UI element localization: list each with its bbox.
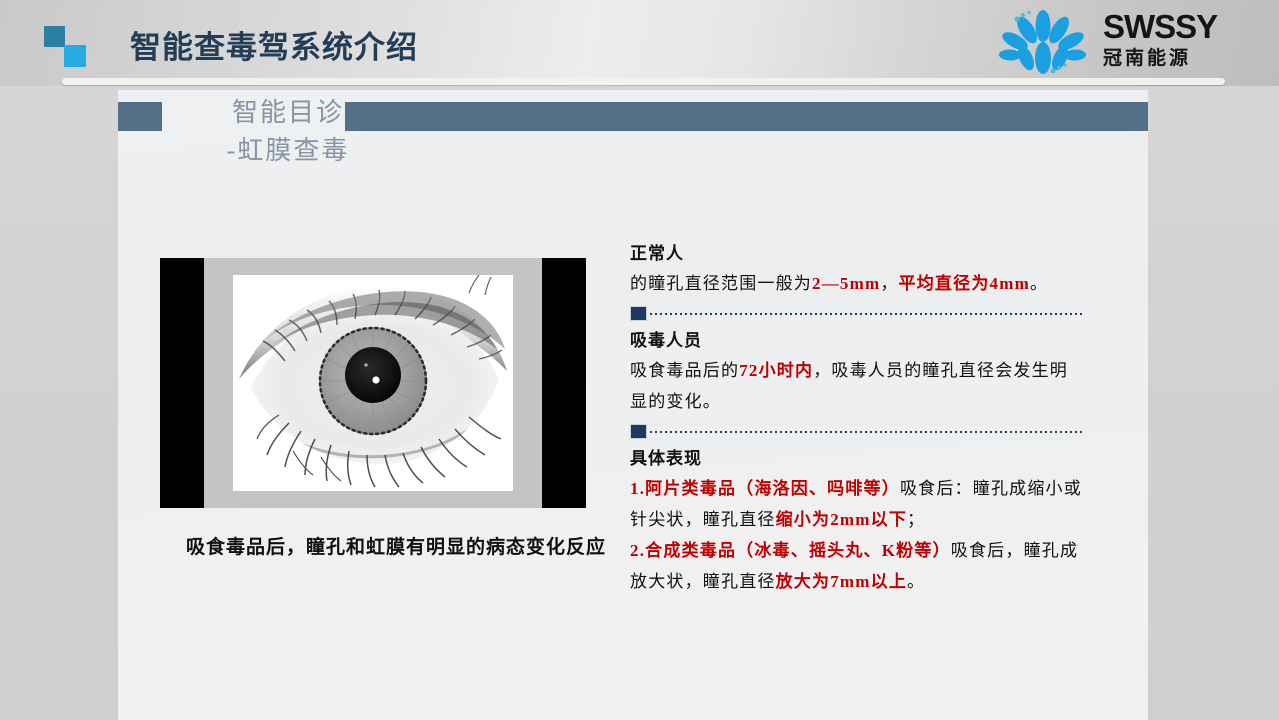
item1-highlight-lead: 1.阿片类毒品（海洛因、吗啡等） [630, 479, 900, 498]
slide-title: 智能目诊 -虹膜查毒 [178, 94, 398, 170]
slide-title-line1: 智能目诊 [232, 98, 344, 127]
content-block-drug-user: 吸毒人员 吸食毒品后的72小时内，吸毒人员的瞳孔直径会发生明显的变化。 [630, 327, 1085, 417]
item2-highlight-value: 放大为7mm以上 [776, 572, 907, 591]
slide-header: 智能查毒驾系统介绍 [0, 0, 1279, 86]
eye-figure [160, 258, 586, 508]
item2-highlight-lead: 2.合成类毒品（冰毒、摇头丸、K粉等） [630, 541, 951, 560]
brand-name: SWSSY [1103, 10, 1253, 44]
block-body: 的瞳孔直径范围一般为2—5mm，平均直径为4mm。 [630, 268, 1085, 299]
header-divider-rule [62, 78, 1225, 85]
title-accent-bar-left [118, 102, 162, 131]
block-heading: 吸毒人员 [630, 327, 1085, 355]
slide-title-line2: -虹膜查毒 [178, 132, 398, 170]
square-bright-icon [64, 45, 86, 67]
body-highlight-1: 2—5mm [812, 274, 880, 293]
block-heading: 正常人 [630, 240, 1085, 268]
body-text-pre: 吸食毒品后的 [630, 361, 739, 380]
petal-flower-logo-icon [995, 8, 1091, 76]
square-dark-icon [44, 26, 65, 47]
content-block-manifestations: 具体表现 1.阿片类毒品（海洛因、吗啡等）吸食后：瞳孔成缩小或针尖状，瞳孔直径缩… [630, 445, 1085, 597]
title-accent-bar-right [345, 102, 1148, 131]
two-squares-icon [44, 26, 92, 66]
eye-photograph [233, 275, 513, 491]
body-highlight-1: 72小时内 [739, 361, 813, 380]
content-block-normal-person: 正常人 的瞳孔直径范围一般为2—5mm，平均直径为4mm。 [630, 240, 1085, 299]
brand-subtitle: 冠南能源 [1103, 46, 1253, 72]
item1-highlight-value: 缩小为2mm以下 [776, 510, 907, 529]
content-text-column: 正常人 的瞳孔直径范围一般为2—5mm，平均直径为4mm。 吸毒人员 吸食毒品后… [630, 240, 1085, 597]
body-highlight-2: 平均直径为4mm [899, 274, 1030, 293]
item2-text-2: 。 [907, 572, 925, 591]
dotted-rule [650, 313, 1085, 315]
section-divider [630, 419, 1085, 445]
detail-item-1: 1.阿片类毒品（海洛因、吗啡等）吸食后：瞳孔成缩小或针尖状，瞳孔直径缩小为2mm… [630, 473, 1085, 535]
figure-caption: 吸食毒品后，瞳孔和虹膜有明显的病态变化反应 [136, 532, 656, 559]
navy-square-bullet-icon [630, 306, 647, 321]
body-text-post: 。 [1030, 274, 1048, 293]
navy-square-bullet-icon [630, 424, 647, 439]
brand-logo: SWSSY 冠南能源 [995, 6, 1255, 78]
detail-item-2: 2.合成类毒品（冰毒、摇头丸、K粉等）吸食后，瞳孔成放大状，瞳孔直径放大为7mm… [630, 535, 1085, 597]
page-title: 智能查毒驾系统介绍 [130, 22, 418, 67]
dotted-rule [650, 431, 1085, 433]
body-text-mid: ， [880, 274, 898, 293]
body-text-pre: 的瞳孔直径范围一般为 [630, 274, 812, 293]
presentation-slide: 智能查毒驾系统介绍 [0, 0, 1279, 720]
brand-text: SWSSY 冠南能源 [1103, 10, 1253, 72]
section-divider [630, 301, 1085, 327]
slide-content-panel: 智能目诊 -虹膜查毒 [118, 90, 1148, 720]
block-heading: 具体表现 [630, 445, 1085, 473]
eye-image-frame [204, 258, 542, 508]
item1-text-2: ； [907, 510, 925, 529]
block-body: 吸食毒品后的72小时内，吸毒人员的瞳孔直径会发生明显的变化。 [630, 355, 1085, 417]
